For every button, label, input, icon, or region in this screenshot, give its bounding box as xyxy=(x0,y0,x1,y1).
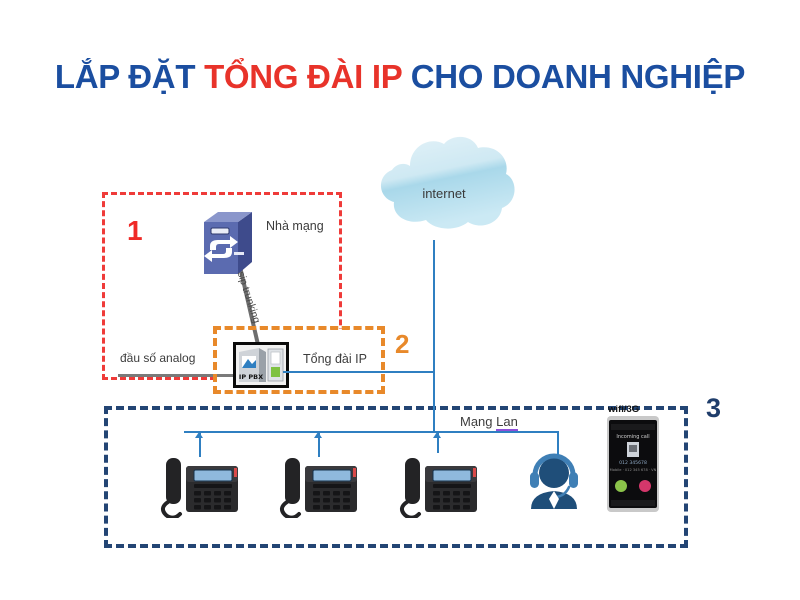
zone-2-number: 2 xyxy=(395,329,409,360)
title-part-3: CHO DOANH NGHIỆP xyxy=(402,58,745,95)
lan-label-prefix: Mạng xyxy=(460,414,496,429)
title-part-2: TỔNG ĐÀI IP xyxy=(204,58,402,95)
svg-text:Mobile · 012 345 678 · VN: Mobile · 012 345 678 · VN xyxy=(610,468,657,472)
headset-agent-icon xyxy=(519,447,589,513)
zone-3-number: 3 xyxy=(706,393,721,424)
diagram-canvas: LẮP ĐẶT TỔNG ĐÀI IP CHO DOANH NGHIỆP 1 2… xyxy=(0,0,800,600)
svg-text:Incoming call: Incoming call xyxy=(616,434,649,440)
smartphone-softphone-icon: Incoming call 012 345678 Mobile · 012 34… xyxy=(607,416,659,512)
isp-server-icon xyxy=(204,212,252,274)
zone-1-number: 1 xyxy=(127,215,143,247)
link-internet-to-lan xyxy=(433,240,435,432)
internet-cloud-label: internet xyxy=(368,186,520,201)
isp-label: Nhà mạng xyxy=(266,219,324,233)
ip-phone-3 xyxy=(397,452,481,518)
page-title: LẮP ĐẶT TỔNG ĐÀI IP CHO DOANH NGHIỆP xyxy=(0,58,800,96)
ip-phone-1 xyxy=(158,452,242,518)
lan-label-suffix: Lan xyxy=(496,414,518,431)
analog-trunk-label: đầu số analog xyxy=(120,351,195,365)
wifi3g-label: wifi/3G xyxy=(608,404,639,415)
title-part-1: LẮP ĐẶT xyxy=(55,58,204,95)
link-pbx-to-internet xyxy=(283,371,435,373)
pbx-label: Tổng đài IP xyxy=(303,352,367,366)
lan-label: Mạng Lan xyxy=(460,414,518,429)
svg-text:012 345678: 012 345678 xyxy=(619,460,647,466)
ip-phone-2 xyxy=(277,452,361,518)
